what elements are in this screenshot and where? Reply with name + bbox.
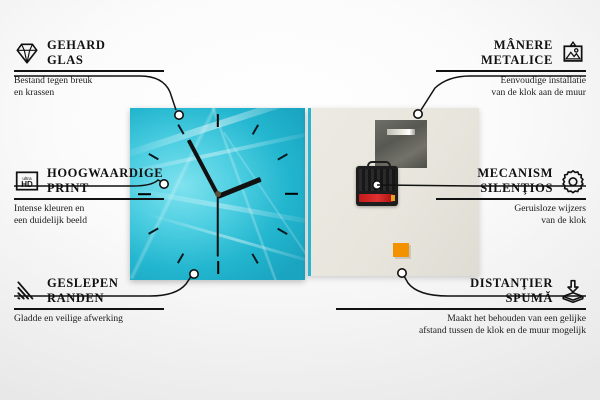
feature-description: Maakt het behouden van een gelijke afsta… <box>336 313 586 338</box>
feature-distantier-spuma: DISTANŢIER SPUMĂ Maakt het behouden van … <box>336 276 586 337</box>
callout-node-geslepen-randen <box>190 270 198 278</box>
feature-header: DISTANŢIER SPUMĂ <box>336 276 586 305</box>
feature-header: MECANISM SILENŢIOS <box>436 166 586 195</box>
picture-hanger-icon <box>560 40 586 66</box>
svg-text:HD: HD <box>21 180 33 189</box>
feature-title: MÂNERE METALICE <box>481 38 553 67</box>
ultra-hd-icon: ultraHD <box>14 168 40 194</box>
feature-description: Geruisloze wijzers van de klok <box>436 203 586 228</box>
feature-manere-metalice: MÂNERE METALICE Eenvoudige installatie v… <box>436 38 586 99</box>
feature-title: HOOGWAARDIGE PRINT <box>47 166 163 195</box>
feature-rule <box>336 308 586 310</box>
feature-title: GEHARD GLAS <box>47 38 105 67</box>
foam-spacer-icon <box>560 278 586 304</box>
gear-icon <box>560 168 586 194</box>
feature-rule <box>14 308 164 310</box>
callout-node-gehard-glas <box>175 111 183 119</box>
feature-header: GESLEPEN RANDEN <box>14 276 164 305</box>
feature-title: DISTANŢIER SPUMĂ <box>470 276 553 305</box>
feature-description: Intense kleuren en een duidelijk beeld <box>14 203 164 228</box>
feature-rule <box>436 198 586 200</box>
feature-rule <box>436 70 586 72</box>
feature-header: MÂNERE METALICE <box>436 38 586 67</box>
feature-gehard-glas: GEHARD GLAS Bestand tegen breuk en krass… <box>14 38 164 99</box>
feature-rule <box>14 70 164 72</box>
feature-header: ultraHD HOOGWAARDIGE PRINT <box>14 166 164 195</box>
callout-node-manere-metalice <box>414 110 422 118</box>
feature-header: GEHARD GLAS <box>14 38 164 67</box>
beveled-edges-icon <box>14 278 40 304</box>
feature-title: MECANISM SILENŢIOS <box>477 166 553 195</box>
feature-description: Bestand tegen breuk en krassen <box>14 75 164 100</box>
feature-description: Gladde en veilige afwerking <box>14 313 164 325</box>
feature-mecanism-silentios: MECANISM SILENŢIOS Geruisloze wijzers va… <box>436 166 586 227</box>
feature-hoogwaardige-print: ultraHD HOOGWAARDIGE PRINT Intense kleur… <box>14 166 164 227</box>
feature-rule <box>14 198 164 200</box>
feature-geslepen-randen: GESLEPEN RANDEN Gladde en veilige afwerk… <box>14 276 164 325</box>
infographic-canvas: GEHARD GLAS Bestand tegen breuk en krass… <box>0 0 600 400</box>
feature-title: GESLEPEN RANDEN <box>47 276 119 305</box>
feature-description: Eenvoudige installatie van de klok aan d… <box>436 75 586 100</box>
diamond-icon <box>14 40 40 66</box>
